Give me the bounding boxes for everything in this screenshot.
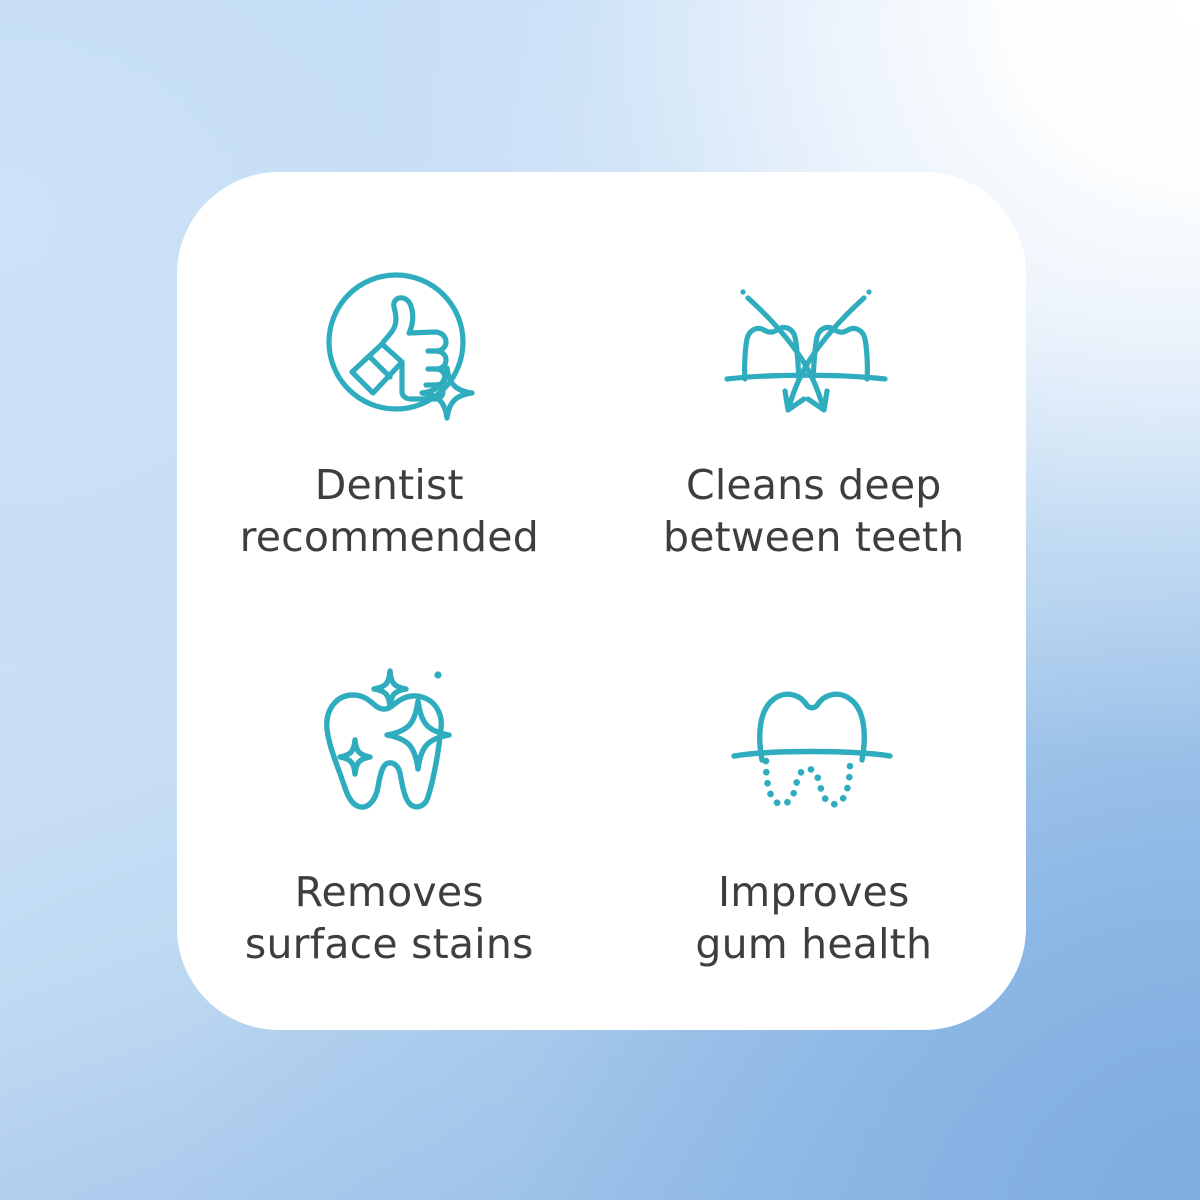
feature-item-cleans-deep-between-teeth[interactable]: Cleans deep between teeth <box>602 172 1027 601</box>
feature-item-removes-surface-stains[interactable]: Removes surface stains <box>177 601 602 1030</box>
tooth-gumline-roots-icon <box>720 653 900 853</box>
feature-label: Improves gum health <box>695 867 932 970</box>
two-teeth-crossing-arrows-icon <box>711 258 901 448</box>
feature-card: Dentist recommended <box>177 172 1026 1030</box>
feature-item-improves-gum-health[interactable]: Improves gum health <box>602 601 1027 1030</box>
feature-label: Removes surface stains <box>245 867 534 970</box>
feature-grid: Dentist recommended <box>177 172 1026 1030</box>
feature-label: Cleans deep between teeth <box>663 460 965 563</box>
feature-label: Dentist recommended <box>240 460 539 563</box>
feature-item-dentist-recommended[interactable]: Dentist recommended <box>177 172 602 601</box>
sparkling-tooth-icon <box>297 641 477 841</box>
thumbs-up-circle-sparkle-icon <box>316 252 486 442</box>
